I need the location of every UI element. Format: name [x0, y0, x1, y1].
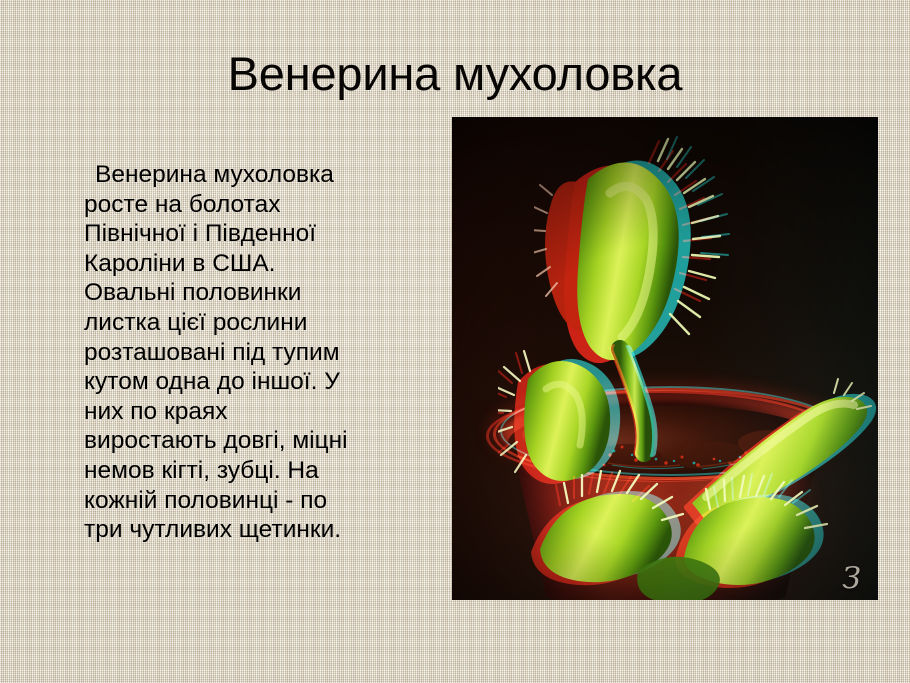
- body-text-line: Кароліни в США.: [84, 249, 432, 279]
- body-text-line: кутом одна до іншої. У: [84, 367, 432, 397]
- body-text-line: росте на болотах: [84, 190, 432, 220]
- body-text-block: Венерина мухоловка росте на болотах Півн…: [84, 160, 432, 545]
- body-text-line: немов кігті, зубці. На: [84, 456, 432, 486]
- body-text-line: Овальні половинки: [84, 278, 432, 308]
- body-text-line: листка цієї рослини: [84, 308, 432, 338]
- terracotta-pot: [490, 385, 842, 600]
- body-text-line: три чутливих щетинки.: [84, 515, 432, 545]
- body-text-line: кожній половинці - по: [84, 486, 432, 516]
- body-text-line: Північної і Південної: [84, 219, 432, 249]
- page-title: Венерина мухоловка: [0, 46, 910, 102]
- body-text-line: розташовані під тупим: [84, 338, 432, 368]
- pot-rim-edge: [493, 388, 845, 480]
- slide: Венерина мухоловка Венерина мухоловка ро…: [0, 0, 910, 683]
- body-text-line: виростають довгі, міцні: [84, 426, 432, 456]
- body-text-line: Венерина мухоловка: [84, 160, 432, 190]
- photo-watermark: З: [842, 564, 861, 594]
- body-text-line: них по краях: [84, 397, 432, 427]
- venus-flytrap-photo: З: [452, 117, 878, 600]
